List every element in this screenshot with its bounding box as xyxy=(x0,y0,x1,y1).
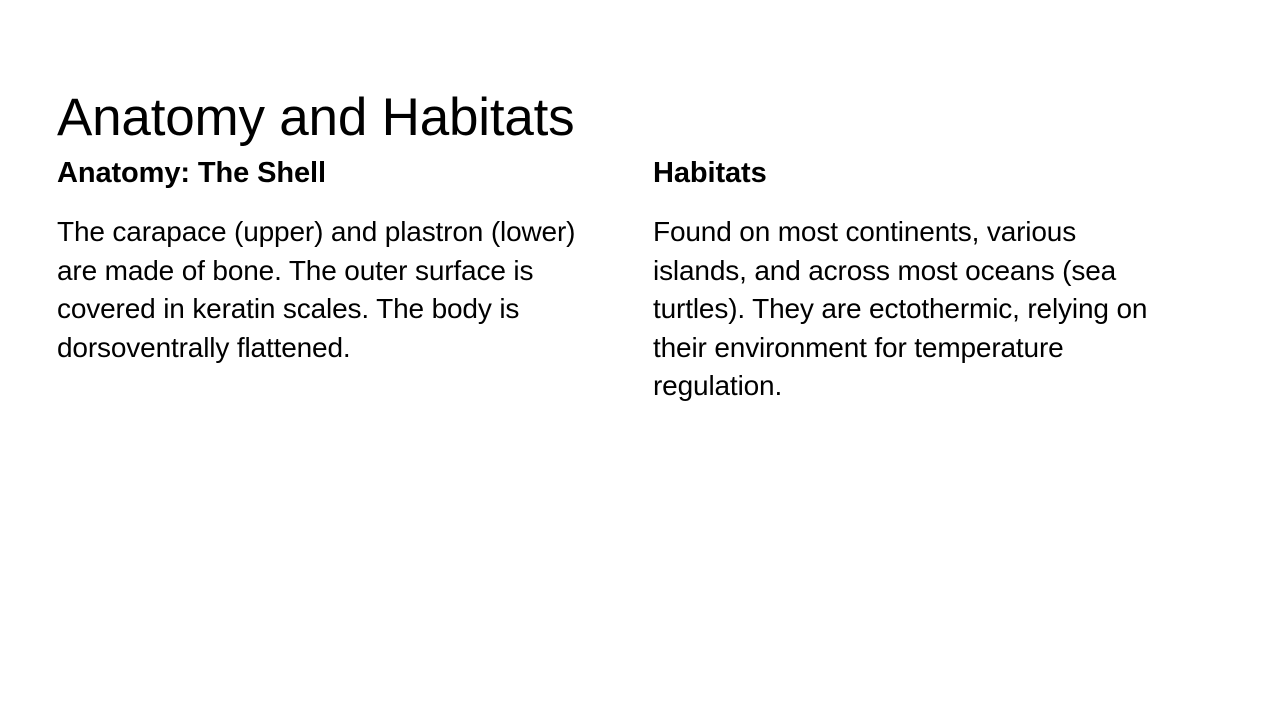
column-body-anatomy: The carapace (upper) and plastron (lower… xyxy=(57,213,577,367)
column-heading-anatomy: Anatomy: The Shell xyxy=(57,155,577,191)
two-column-content: Anatomy: The Shell The carapace (upper) … xyxy=(57,155,1177,406)
presentation-slide: Anatomy and Habitats Anatomy: The Shell … xyxy=(0,0,1280,720)
column-body-habitats: Found on most continents, various island… xyxy=(653,213,1173,406)
column-anatomy: Anatomy: The Shell The carapace (upper) … xyxy=(57,155,577,367)
column-heading-habitats: Habitats xyxy=(653,155,1173,191)
page-title: Anatomy and Habitats xyxy=(57,88,1227,147)
column-habitats: Habitats Found on most continents, vario… xyxy=(653,155,1173,406)
